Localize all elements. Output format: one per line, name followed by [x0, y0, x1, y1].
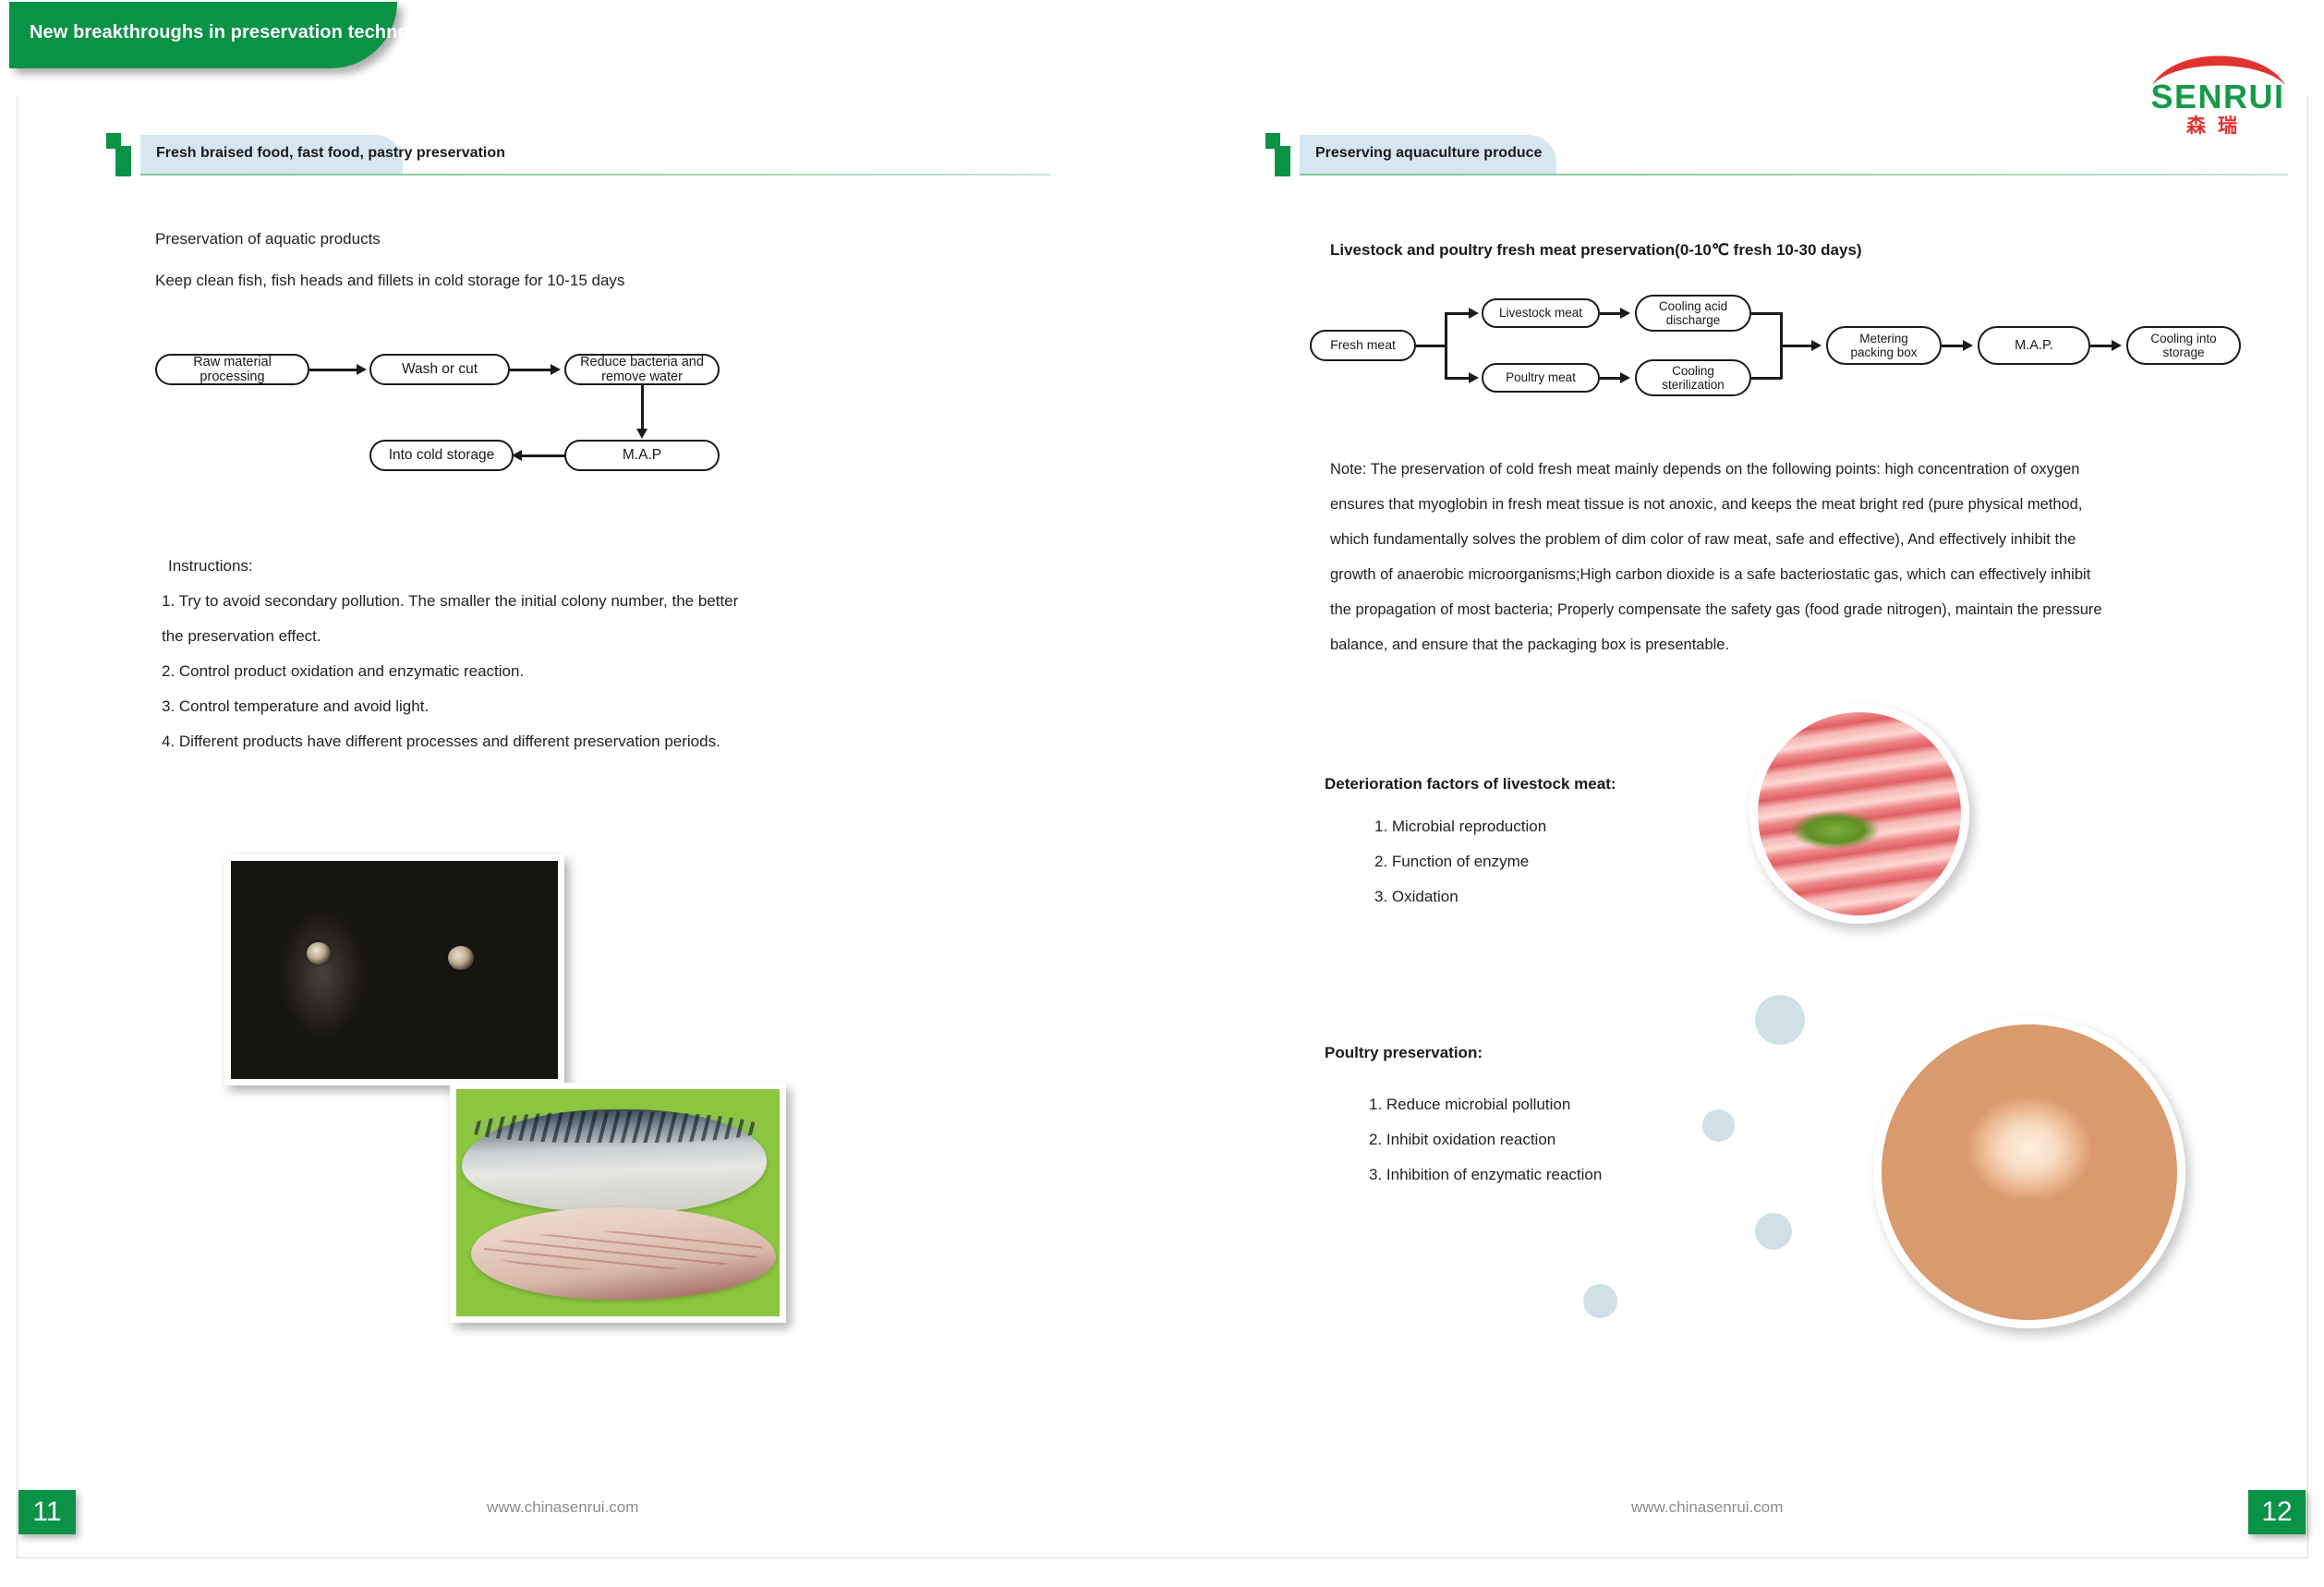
flow-connector [1416, 345, 1446, 347]
flow-node-label: Poultry meat [1502, 370, 1580, 384]
deterioration-title: Deterioration factors of livestock meat: [1325, 775, 1616, 793]
page-number-right: 12 [2248, 1490, 2306, 1534]
flow-node-label: Coolingsterilization [1658, 364, 1728, 392]
flow-arrow [1811, 340, 1822, 351]
note-line-4: growth of anaerobic microorganisms;High … [1330, 566, 2090, 584]
flow-node-label: Livestock meat [1495, 306, 1586, 320]
flow-node-map: M.A.P. [1978, 326, 2090, 365]
poultry-item-1: 1. Reduce microbial pollution [1369, 1096, 1570, 1114]
flow-connector [1445, 312, 1471, 315]
flow-connector [1942, 345, 1965, 347]
deterioration-item-2: 2. Function of enzyme [1374, 853, 1529, 871]
instruction-item-4: 4. Different products have different pro… [162, 733, 720, 751]
note-line-5: the propagation of most bacteria; Proper… [1330, 601, 2102, 619]
flow-connector [309, 369, 358, 371]
flow-connector [641, 385, 644, 432]
flow-node-cooling-sterilization: Coolingsterilization [1635, 359, 1751, 396]
note-line-1: Note: The preservation of cold fresh mea… [1330, 461, 2079, 479]
mackerel-fillet-photo [450, 1083, 786, 1323]
page-edge-left [17, 96, 18, 1557]
flow-node-label: Reduce bacteria andremove water [576, 355, 708, 384]
flow-arrow [1469, 308, 1479, 319]
note-line-2: ensures that myoglobin in fresh meat tis… [1330, 496, 2082, 514]
flow-arrow [357, 364, 367, 375]
right-page-title: Livestock and poultry fresh meat preserv… [1330, 241, 1862, 260]
brochure-spread: New breakthroughs in preservation techno… [0, 0, 2324, 1587]
sliced-pork-photo [1749, 704, 1969, 924]
flow-node-label: Meteringpacking box [1846, 332, 1920, 359]
senrui-logo: SENRUI 森瑞 [2139, 44, 2296, 135]
flow-node-label: Into cold storage [385, 447, 499, 463]
flow-connector [1751, 377, 1782, 380]
flow-connector [1445, 377, 1471, 380]
note-line-6: balance, and ensure that the packaging b… [1330, 636, 1729, 654]
header-tab: New breakthroughs in preservation techno… [9, 2, 397, 68]
flow-arrow [1469, 372, 1479, 383]
mackerel-fillet [471, 1207, 776, 1300]
flow-node-poultry-meat: Poultry meat [1482, 363, 1600, 393]
flow-node-label: Raw materialprocessing [189, 355, 275, 384]
flow-node-cooling-into-storage: Cooling intostorage [2126, 326, 2241, 365]
right-flowchart: Fresh meat Livestock meat Poultry meat C… [1310, 300, 2298, 402]
poultry-item-2: 2. Inhibit oxidation reaction [1369, 1131, 1555, 1149]
flow-arrow [1963, 340, 1973, 351]
page-number-left: 11 [18, 1490, 76, 1534]
left-section-banner: Fresh braised food, fast food, pastry pr… [140, 135, 403, 174]
flow-arrow [636, 429, 648, 439]
flow-node-label: Cooling aciddischarge [1655, 299, 1731, 327]
right-section-title: Preserving aquaculture produce [1315, 145, 1542, 162]
instruction-item-1: 1. Try to avoid secondary pollution. The… [162, 592, 738, 611]
flow-node-livestock-meat: Livestock meat [1482, 298, 1600, 328]
decor-dot-large [1755, 995, 1805, 1045]
deterioration-item-3: 3. Oxidation [1374, 888, 1459, 906]
flow-node-cooling-acid-discharge: Cooling aciddischarge [1635, 295, 1751, 332]
flow-connector [1445, 312, 1447, 379]
flow-node-raw-material: Raw materialprocessing [155, 354, 309, 385]
header-tab-title: New breakthroughs in preservation techno… [30, 22, 447, 43]
left-section-title: Fresh braised food, fast food, pastry pr… [156, 145, 505, 162]
right-section-header: Preserving aquaculture produce [1265, 140, 2291, 188]
flow-node-map: M.A.P [564, 440, 720, 471]
footer-url-right[interactable]: www.chinasenrui.com [1631, 1498, 1783, 1517]
page-bottom-rule [17, 1557, 2307, 1558]
logo-chinese-name: 森瑞 [2139, 111, 2296, 139]
footer-url-left[interactable]: www.chinasenrui.com [487, 1498, 638, 1517]
flow-connector [2090, 345, 2113, 347]
fish-eye-right [448, 946, 474, 970]
flow-node-label: Fresh meat [1326, 338, 1399, 353]
right-section-banner: Preserving aquaculture produce [1300, 135, 1556, 174]
decor-dot-small-2 [1583, 1284, 1617, 1318]
flow-connector [1600, 312, 1622, 315]
flow-connector [510, 369, 552, 371]
mackerel-whole [462, 1109, 767, 1213]
poultry-item-3: 3. Inhibition of enzymatic reaction [1369, 1166, 1602, 1184]
decor-dot-medium [1755, 1213, 1792, 1250]
flow-arrow [2112, 340, 2122, 351]
flow-node-into-cold-storage: Into cold storage [369, 440, 514, 471]
flow-arrow [1620, 308, 1630, 319]
instruction-item-1-cont: the preservation effect. [162, 627, 321, 646]
left-flowchart: Raw materialprocessing Wash or cut Reduc… [155, 349, 802, 497]
flow-connector [1780, 345, 1813, 347]
flow-node-metering-packing-box: Meteringpacking box [1826, 326, 1942, 365]
deterioration-item-1: 1. Microbial reproduction [1374, 818, 1546, 836]
page-edge-right [2307, 96, 2308, 1557]
flow-arrow [551, 364, 561, 375]
flow-node-wash-or-cut: Wash or cut [369, 354, 510, 385]
instruction-item-2: 2. Control product oxidation and enzymat… [162, 662, 524, 681]
poultry-title: Poultry preservation: [1325, 1044, 1483, 1062]
left-intro-line-2: Keep clean fish, fish heads and fillets … [155, 272, 624, 290]
note-line-3: which fundamentally solves the problem o… [1330, 531, 2076, 549]
flow-connector [1751, 312, 1782, 315]
decor-dot-small [1702, 1109, 1735, 1142]
left-section-rule [140, 174, 1050, 176]
left-intro-line-1: Preservation of aquatic products [155, 230, 381, 248]
left-section-header: Fresh braised food, fast food, pastry pr… [106, 140, 1048, 188]
green-square-large-icon [115, 146, 131, 176]
fish-heads-photo [224, 854, 564, 1085]
whole-chicken-photo [1873, 1016, 2185, 1328]
green-square-large-icon [1275, 146, 1290, 176]
flow-node-reduce-bacteria: Reduce bacteria andremove water [564, 354, 720, 385]
flow-node-label: M.A.P. [2011, 338, 2057, 353]
right-section-rule [1300, 174, 2288, 176]
flow-connector [515, 454, 566, 457]
flow-arrow [1620, 372, 1630, 383]
flow-node-fresh-meat: Fresh meat [1310, 330, 1416, 361]
flow-connector [1600, 377, 1622, 380]
instructions-title: Instructions: [168, 557, 253, 575]
flow-node-label: Wash or cut [398, 361, 481, 377]
flow-node-label: M.A.P [619, 447, 665, 463]
fish-eye-left [307, 942, 331, 964]
instruction-item-3: 3. Control temperature and avoid light. [162, 697, 429, 716]
flow-node-label: Cooling intostorage [2147, 332, 2220, 359]
